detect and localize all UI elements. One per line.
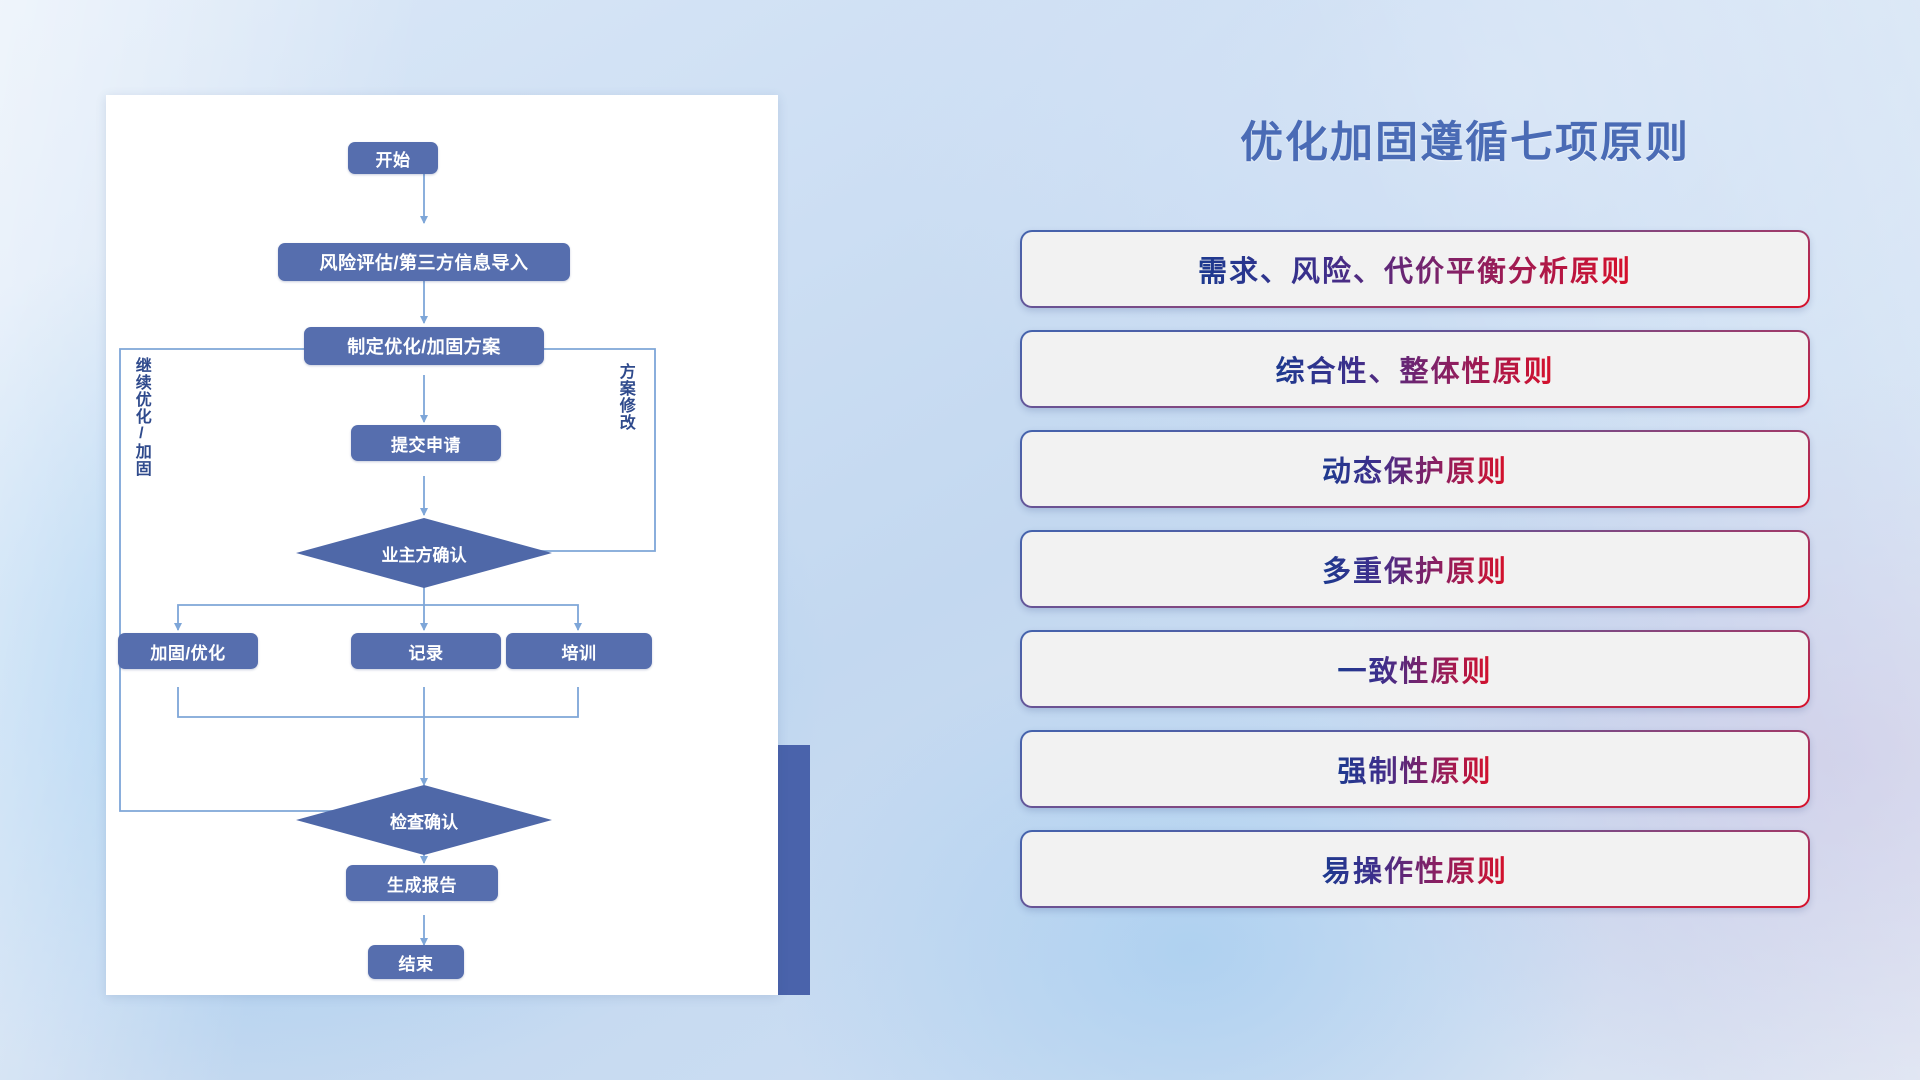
principle-card-7-label: 易操作性原则 [1322,848,1508,890]
principle-card-3-inner: 动态保护原则 [1022,432,1808,506]
principles-list: 需求、风险、代价平衡分析原则 综合性、整体性原则 动态保护原则 多重保护原则 一… [1020,230,1810,930]
principle-card-2-label: 综合性、整体性原则 [1275,348,1554,390]
principles-pane: 优化加固遵循七项原则 需求、风险、代价平衡分析原则 综合性、整体性原则 动态保护… [1010,0,1920,1080]
flow-node-submit-application[interactable]: 提交申请 [351,425,501,461]
principle-card-7[interactable]: 易操作性原则 [1020,830,1810,908]
flowchart-card: 开始 风险评估/第三方信息导入 制定优化/加固方案 提交申请 业主方确认 加固/… [106,95,778,995]
flow-node-plan[interactable]: 制定优化/加固方案 [304,327,544,365]
principle-card-6[interactable]: 强制性原则 [1020,730,1810,808]
principle-card-3[interactable]: 动态保护原则 [1020,430,1810,508]
flow-node-start[interactable]: 开始 [348,142,438,174]
principle-card-2-inner: 综合性、整体性原则 [1022,332,1808,406]
principle-card-4-label: 多重保护原则 [1322,548,1508,590]
flow-edge-label-continue-optimize: 继续优化/加固 [132,357,149,477]
principle-card-2[interactable]: 综合性、整体性原则 [1020,330,1810,408]
principle-card-7-inner: 易操作性原则 [1022,832,1808,906]
flow-node-reinforce-optimize[interactable]: 加固/优化 [118,633,258,669]
principle-card-5-label: 一致性原则 [1337,648,1492,690]
principle-card-1-inner: 需求、风险、代价平衡分析原则 [1022,232,1808,306]
principles-title: 优化加固遵循七项原则 [1010,108,1920,170]
flow-node-risk-assessment[interactable]: 风险评估/第三方信息导入 [278,243,570,281]
flow-edge-label-plan-revision: 方案修改 [616,363,633,431]
principle-card-6-label: 强制性原则 [1337,748,1492,790]
principle-card-4[interactable]: 多重保护原则 [1020,530,1810,608]
flow-node-training[interactable]: 培训 [506,633,652,669]
flow-node-end[interactable]: 结束 [368,945,464,979]
principle-card-3-label: 动态保护原则 [1322,448,1508,490]
principle-card-1[interactable]: 需求、风险、代价平衡分析原则 [1020,230,1810,308]
flow-node-record[interactable]: 记录 [351,633,501,669]
flowchart-canvas: 开始 风险评估/第三方信息导入 制定优化/加固方案 提交申请 业主方确认 加固/… [106,95,778,995]
principle-card-5[interactable]: 一致性原则 [1020,630,1810,708]
principle-card-5-inner: 一致性原则 [1022,632,1808,706]
principle-card-4-inner: 多重保护原则 [1022,532,1808,606]
principle-card-6-inner: 强制性原则 [1022,732,1808,806]
flow-node-generate-report[interactable]: 生成报告 [346,865,498,901]
principle-card-1-label: 需求、风险、代价平衡分析原则 [1198,248,1632,290]
